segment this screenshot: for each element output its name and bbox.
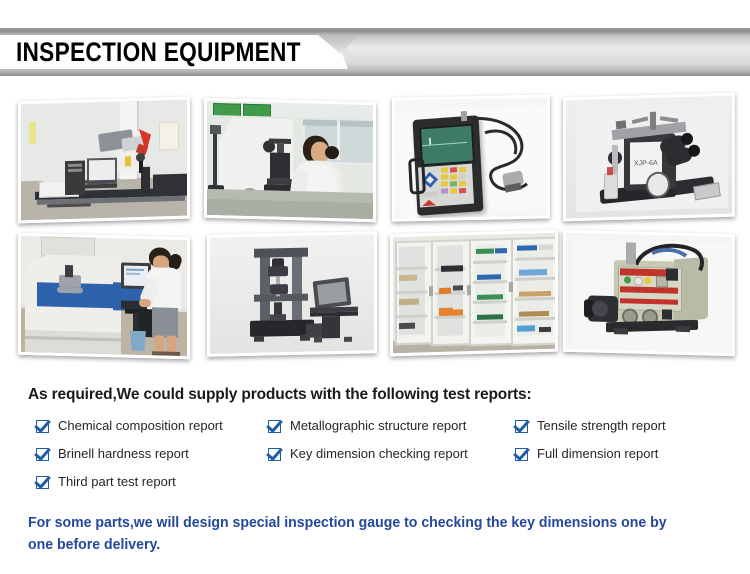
list-item-label: Brinell hardness report (58, 446, 189, 461)
checkbox-checked-icon[interactable] (36, 448, 49, 461)
reports-lead-heading: As required,We could supply products wit… (28, 386, 531, 404)
checkbox-checked-icon[interactable] (36, 476, 49, 489)
list-item-label: Key dimension checking report (290, 446, 468, 461)
list-item[interactable]: Metallographic structure report (268, 418, 466, 433)
photo-ultrasonic-flaw-detector (392, 94, 550, 221)
list-item[interactable]: Tensile strength report (515, 418, 666, 433)
photo-xray-flaw-detector (563, 230, 735, 357)
checkbox-checked-icon[interactable] (515, 420, 528, 433)
list-item-label: Metallographic structure report (290, 418, 466, 433)
photo-gauge-storage-cabinets (390, 230, 558, 357)
list-item-label: Tensile strength report (537, 418, 666, 433)
checkbox-checked-icon[interactable] (36, 420, 49, 433)
photo-spectrometer-operator (18, 233, 190, 360)
photo-hardness-tester-operator (204, 98, 376, 223)
inspection-gauge-note: For some parts,we will design special in… (28, 512, 677, 556)
list-item-label: Chemical composition report (58, 418, 223, 433)
list-item[interactable]: Chemical composition report (36, 418, 223, 433)
list-item-label: Full dimension report (537, 446, 658, 461)
equipment-photo-gallery: XJP-6A (0, 86, 750, 374)
list-item[interactable]: Key dimension checking report (268, 446, 468, 461)
list-item[interactable]: Third part test report (36, 474, 176, 489)
list-item-label: Third part test report (58, 474, 176, 489)
checkbox-checked-icon[interactable] (268, 420, 281, 433)
page-title: INSPECTION EQUIPMENT (16, 37, 301, 68)
checkbox-checked-icon[interactable] (515, 448, 528, 461)
list-item[interactable]: Full dimension report (515, 446, 658, 461)
photo-metallurgical-microscope: XJP-6A (563, 93, 735, 222)
page-banner: INSPECTION EQUIPMENT (0, 28, 750, 76)
checkbox-checked-icon[interactable] (268, 448, 281, 461)
list-item[interactable]: Brinell hardness report (36, 446, 189, 461)
photo-universal-tensile-tester (207, 231, 377, 357)
photo-cmm-measuring-machine (18, 97, 190, 224)
